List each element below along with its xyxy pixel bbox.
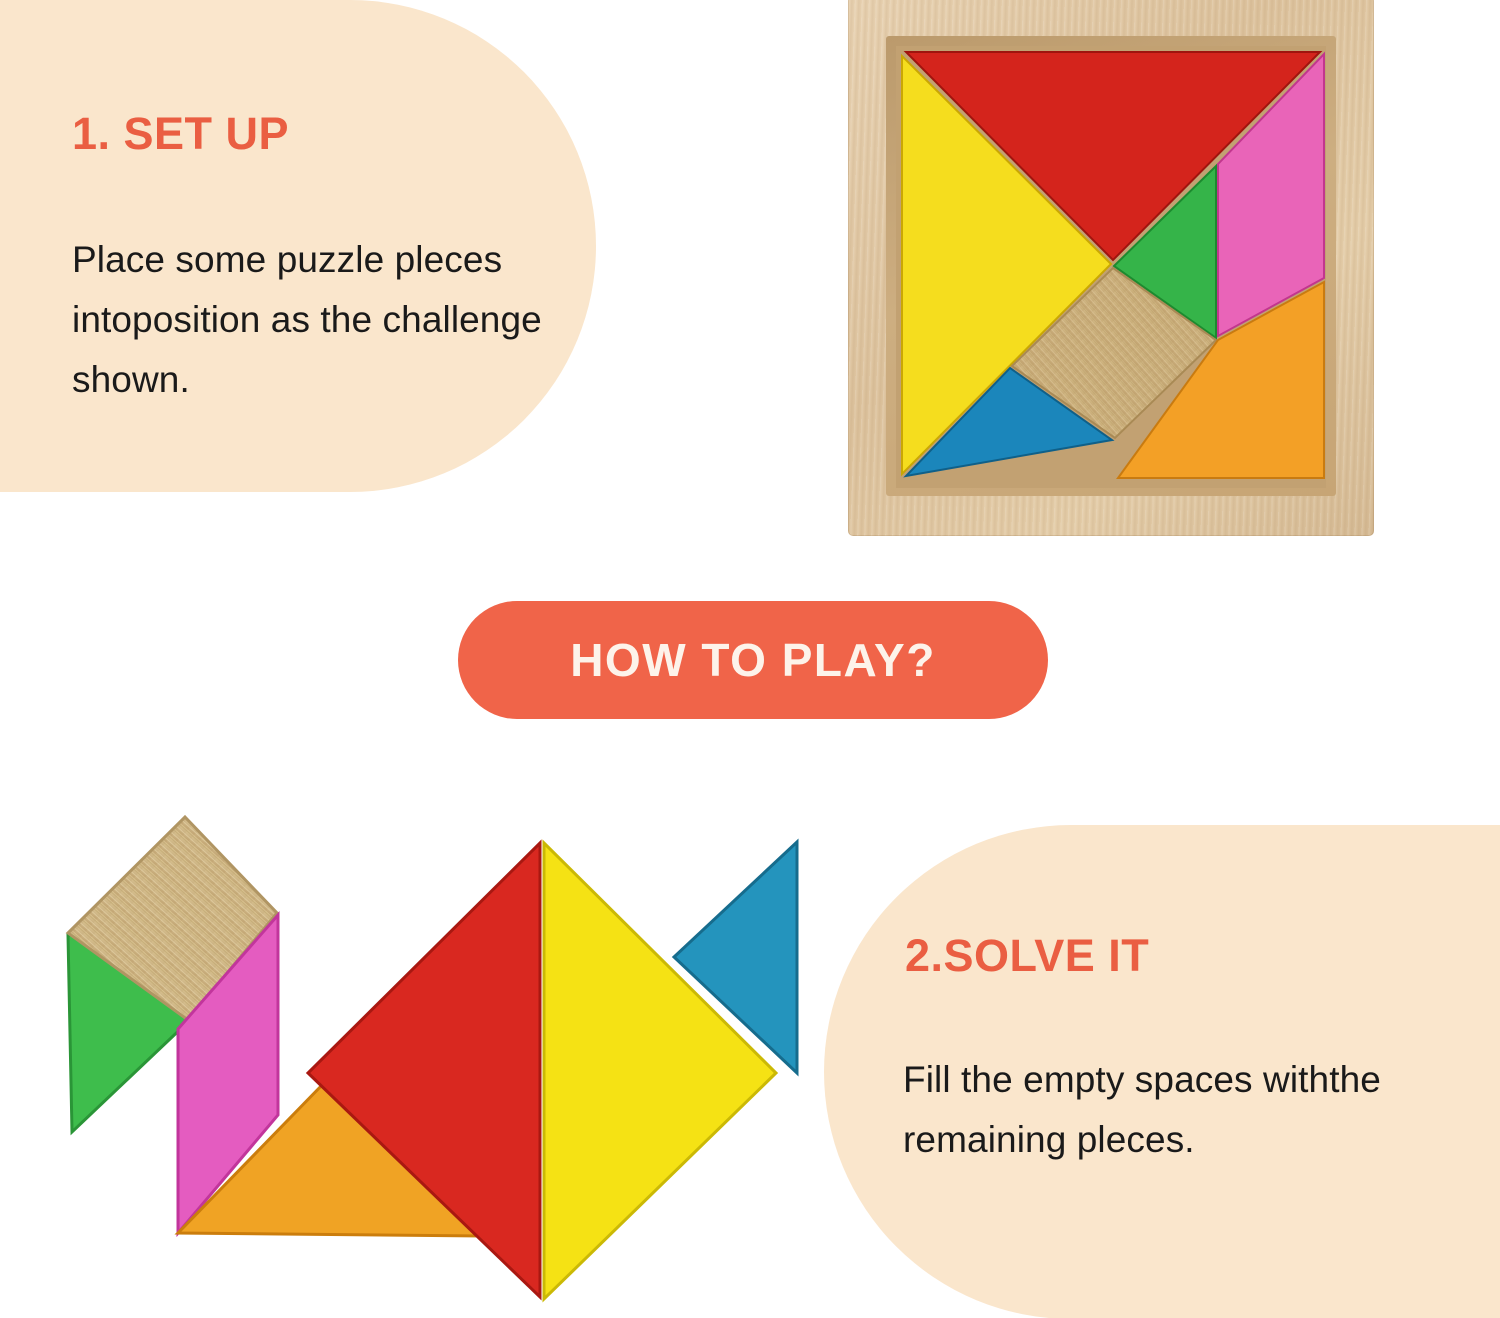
step-solve-title: 2.SOLVE IT	[905, 930, 1149, 982]
how-to-play-button[interactable]: HOW TO PLAY?	[458, 601, 1048, 719]
tangram-figure-svg	[40, 815, 830, 1318]
framed-tangram-puzzle	[848, 0, 1374, 536]
step-setup-body: Place some puzzle pleces intoposition as…	[72, 230, 652, 410]
assembled-tangram-figure	[40, 815, 830, 1318]
tangram-pieces-svg	[896, 46, 1326, 488]
step-setup-title: 1. SET UP	[72, 108, 289, 160]
tangram-tray	[896, 46, 1326, 488]
infographic-canvas: 1. SET UP Place some puzzle pleces intop…	[0, 0, 1500, 1318]
step-solve-body: Fill the empty spaces withthe remaining …	[903, 1050, 1473, 1170]
